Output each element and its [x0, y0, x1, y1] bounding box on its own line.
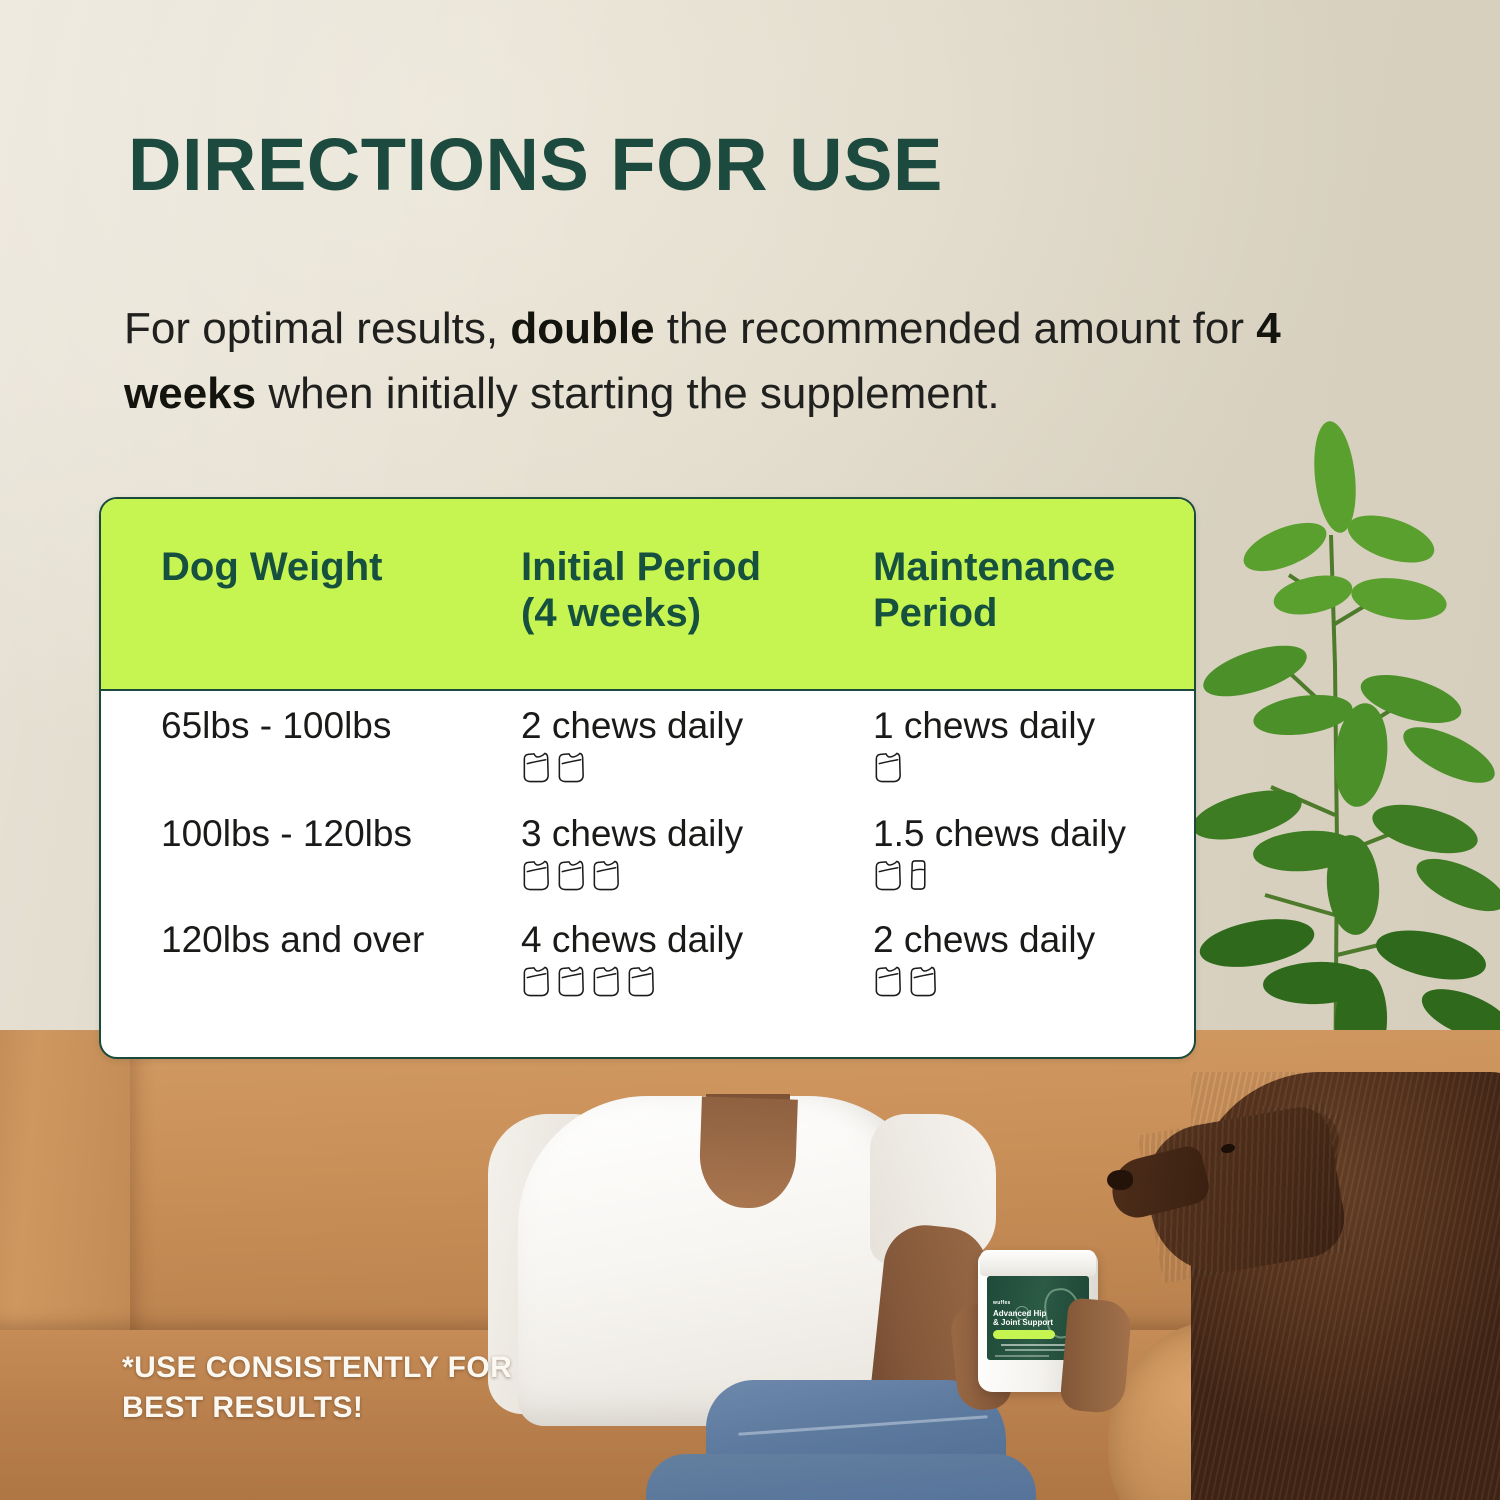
chew-treat-icon: [556, 859, 586, 892]
chew-icons-maintenance: [873, 859, 927, 892]
subheading-part-2: the recommended amount for: [655, 304, 1257, 353]
table-row: 100lbs - 120lbs3 chews daily1.5 chews da…: [101, 813, 1194, 919]
jar-flavor-badge: [993, 1330, 1055, 1339]
cell-maintenance-period: 1.5 chews daily: [873, 813, 1126, 856]
dog-nose: [1107, 1170, 1133, 1190]
chew-treat-icon: [908, 965, 938, 998]
cell-maintenance-period: 2 chews daily: [873, 919, 1095, 962]
chew-treat-icon: [556, 965, 586, 998]
chew-treat-icon: [591, 965, 621, 998]
couch-left-arm: [0, 1030, 130, 1372]
footnote-line-1: *USE CONSISTENTLY FOR: [122, 1351, 512, 1384]
cell-dog-weight: 120lbs and over: [161, 919, 424, 962]
jar-lid: [980, 1250, 1096, 1276]
column-header-dog-weight-label: Dog Weight: [161, 545, 382, 589]
chew-treat-icon: [873, 751, 903, 784]
cell-initial-period: 2 chews daily: [521, 705, 743, 748]
chew-icons-initial: [521, 751, 586, 784]
dosage-table-card: Dog Weight Initial Period (4 weeks) Main…: [99, 497, 1196, 1059]
column-header-initial-period: Initial Period (4 weeks): [521, 545, 761, 636]
cell-dog-weight: 100lbs - 120lbs: [161, 813, 412, 856]
chew-treat-icon: [626, 965, 656, 998]
footnote: *USE CONSISTENTLY FOR BEST RESULTS!: [122, 1348, 552, 1428]
jar-brand: wuffes: [993, 1300, 1011, 1306]
column-header-initial-period-label: Initial Period: [521, 545, 761, 589]
chew-treat-icon: [556, 751, 586, 784]
chew-treat-icon: [873, 859, 903, 892]
page-title: DIRECTIONS FOR USE: [128, 128, 943, 202]
cell-initial-period: 3 chews daily: [521, 813, 743, 856]
chew-treat-icon: [521, 859, 551, 892]
subheading-part-3: when initially starting the supplement.: [256, 369, 1000, 418]
cell-maintenance-period: 1 chews daily: [873, 705, 1095, 748]
product-jar: wuffes Advanced Hip & Joint Support: [978, 1252, 1098, 1392]
chew-treat-icon: [873, 965, 903, 998]
table-row: 65lbs - 100lbs2 chews daily1 chews daily: [101, 705, 1194, 811]
chew-treat-icon: [521, 751, 551, 784]
dosage-table-body: 65lbs - 100lbs2 chews daily1 chews daily…: [101, 691, 1194, 1057]
chew-treat-icon: [521, 965, 551, 998]
cell-initial-period: 4 chews daily: [521, 919, 743, 962]
column-header-maintenance-period-sub: Period: [873, 591, 997, 635]
jar-title-line1: Advanced Hip: [993, 1309, 1046, 1318]
jar-fineprint-2: [1005, 1349, 1071, 1351]
houseplant: [1185, 415, 1500, 1115]
chew-icons-initial: [521, 859, 621, 892]
subheading-bold-double: double: [510, 304, 654, 353]
dosage-table-header: Dog Weight Initial Period (4 weeks) Main…: [101, 499, 1194, 691]
column-header-maintenance-period: Maintenance Period: [873, 545, 1115, 636]
woman-lap: [646, 1454, 1036, 1500]
chew-icons-maintenance: [873, 965, 938, 998]
jar-title-line2: & Joint Support: [993, 1318, 1053, 1327]
chew-treat-half-icon: [908, 859, 927, 892]
chew-icons-initial: [521, 965, 656, 998]
chew-icons-maintenance: [873, 751, 903, 784]
jar-fineprint-3: [995, 1355, 1049, 1357]
footnote-line-2: BEST RESULTS!: [122, 1391, 363, 1424]
subheading-text: For optimal results, double the recommen…: [124, 296, 1394, 426]
column-header-maintenance-period-label: Maintenance: [873, 545, 1115, 589]
table-row: 120lbs and over4 chews daily2 chews dail…: [101, 919, 1194, 1025]
brown-dog: [1105, 1060, 1500, 1500]
cell-dog-weight: 65lbs - 100lbs: [161, 705, 391, 748]
chew-treat-icon: [591, 859, 621, 892]
column-header-initial-period-sub: (4 weeks): [521, 591, 701, 635]
subheading-part-1: For optimal results,: [124, 304, 510, 353]
column-header-dog-weight: Dog Weight: [161, 545, 382, 591]
